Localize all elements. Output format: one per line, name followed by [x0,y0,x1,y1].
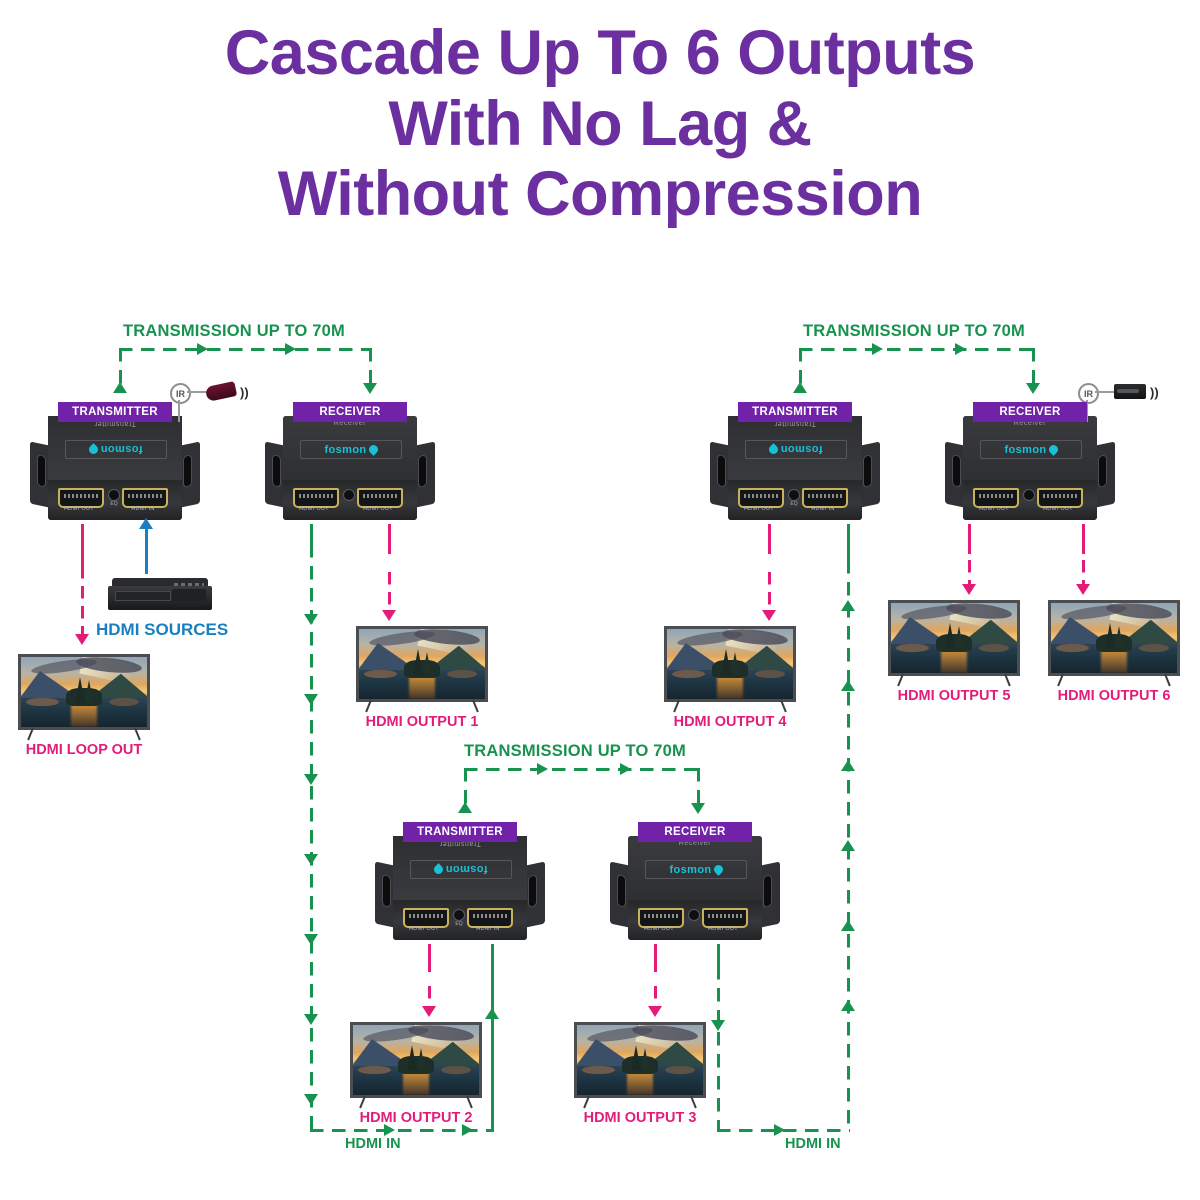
device-transmitter-1[interactable]: TRANSMITTER Transmitter fosmon HDMI OUT … [30,402,200,532]
display-caption-loop-out: HDMI LOOP OUT [18,742,150,758]
hdmi-out-port-2[interactable] [738,488,784,508]
display-output-1[interactable]: HDMI OUTPUT 1 [356,626,488,702]
eq-knob-3[interactable] [454,910,464,920]
hdmi-out-port-r1b[interactable] [357,488,403,508]
cascade-left-arrow-4 [304,854,318,865]
hdmi-out-port-1[interactable] [58,488,104,508]
mount-slot [184,455,191,486]
ir-wire [1095,391,1115,393]
brand-logo-plate: fosmon [745,440,847,459]
hdmi-out-port-r1a[interactable] [293,488,339,508]
hdmi-out-label-3: HDMI OUT [399,926,449,932]
cascade-right-end [847,524,850,562]
link3-arrow-b [620,763,631,775]
out1-line-seg2 [388,572,391,610]
tx2-riser-arrow [793,382,807,393]
display-caption-output-3: HDMI OUTPUT 3 [574,1110,706,1126]
tv-screen [18,654,150,730]
out6-arrow [1076,584,1090,595]
cascade-left-start [310,524,313,544]
dvd-indicators [174,583,204,586]
tv-screen [888,600,1020,676]
loopout-line-seg1 [81,524,84,566]
display-loop-out[interactable]: HDMI LOOP OUT [18,654,150,730]
tv-screen [350,1022,482,1098]
transmitter-badge-1: TRANSMITTER [58,402,172,422]
display-caption-output-4: HDMI OUTPUT 4 [664,714,796,730]
out2-arrow [422,1006,436,1017]
cascade-left-arrow-1 [304,614,318,625]
out4-line-seg2 [768,572,771,610]
brand-logo-text: fosmon [780,444,822,456]
cascade-left-run-arrow-b [462,1124,473,1136]
tx1-riser-arrow [113,382,127,393]
hdmi-out-port-r2a[interactable] [973,488,1019,508]
transmission-label-2: TRANSMISSION UP TO 70M [803,322,1025,341]
cascade-right-run-arrow [774,1124,785,1136]
cascade-left-end-arrow [485,1008,499,1019]
tx2-rx2-link [799,348,1035,351]
mount-slot [38,455,45,486]
display-caption-output-1: HDMI OUTPUT 1 [356,714,488,730]
out3-line-seg2 [654,986,657,1006]
source-line [145,524,148,574]
hdmi-in-label-2: HDMI IN [798,506,848,512]
device-transmitter-3[interactable]: TRANSMITTER Transmitter fosmon HDMI OUT … [375,822,545,952]
link3-arrow-a [537,763,548,775]
cascade-left-arrow-5 [304,934,318,945]
brand-logo-text: fosmon [445,864,487,876]
hdmi-out-label-r3b: HDMI OUT [698,926,748,932]
eq-knob-1[interactable] [109,490,119,500]
rx1-dropper-arrow [363,383,377,394]
rx2-dropper-arrow [1026,383,1040,394]
receiver-badge-1: RECEIVER [293,402,407,422]
source-arrow [139,518,153,529]
brand-logo-plate: fosmon [645,860,747,879]
brand-logo-plate: fosmon [980,440,1082,459]
cascade-right-drop-arrow [711,1020,725,1031]
display-output-4[interactable]: HDMI OUTPUT 4 [664,626,796,702]
tx3-riser-arrow [458,802,472,813]
hdmi-out-port-r3a[interactable] [638,908,684,928]
brand-logo-icon [433,863,446,876]
brand-logo-icon [88,443,101,456]
out6-line-seg1 [1082,524,1085,554]
hdmi-out-port-r2b[interactable] [1037,488,1083,508]
display-output-2[interactable]: HDMI OUTPUT 2 [350,1022,482,1098]
brand-logo-icon [712,863,725,876]
out5-line-seg2 [968,560,971,584]
ir-emitter-icon [205,381,237,402]
out1-arrow [382,610,396,621]
title-line-3: Without Compression [0,159,1200,230]
cascade-right-arrow-5 [841,920,855,931]
hdmi-out-port-3[interactable] [403,908,449,928]
out5-arrow [962,584,976,595]
transmission-label-1: TRANSMISSION UP TO 70M [123,322,345,341]
link2-arrow-a [872,343,883,355]
ir-drop-wire [178,400,180,422]
tv-screen [1048,600,1180,676]
brand-logo-plate: fosmon [65,440,167,459]
hdmi-in-label-3: HDMI IN [463,926,513,932]
brand-logo-text: fosmon [669,864,711,876]
tx1-rx1-link [119,348,372,351]
cascade-right-arrow-1 [841,600,855,611]
ir-signal-icon: )) [1150,385,1159,400]
brand-logo-text: fosmon [1004,444,1046,456]
page-title: Cascade Up To 6 Outputs With No Lag & Wi… [0,18,1200,230]
cascade-right-arrow-3 [841,760,855,771]
link1-arrow-a [197,343,208,355]
cascade-right-dropper [717,966,720,1132]
out4-arrow [762,610,776,621]
link1-arrow-b [285,343,296,355]
out3-line-seg1 [654,944,657,972]
cascade-left-riser [310,544,313,1132]
hdmi-sources-label: HDMI SOURCES [96,620,228,640]
tv-screen [574,1022,706,1098]
hdmi-in-port-2[interactable] [802,488,848,508]
hdmi-out-label-2: HDMI OUT [734,506,784,512]
brand-logo-text: fosmon [100,444,142,456]
display-output-3[interactable]: HDMI OUTPUT 3 [574,1022,706,1098]
ir-wire [187,391,207,393]
cascade-left-arrow-6 [304,1014,318,1025]
transmitter-badge-3: TRANSMITTER [403,822,517,842]
cascade-right-arrow-2 [841,680,855,691]
out4-line-seg1 [768,524,771,554]
cascade-right-arrow-6 [841,1000,855,1011]
device-receiver-3[interactable]: RECEIVER Receiver fosmon HDMI OUT HDMI O… [610,822,780,952]
out5-line-seg1 [968,524,971,554]
hdmi-in-port-3[interactable] [467,908,513,928]
eq-knob-2[interactable] [789,490,799,500]
out2-line-seg2 [428,986,431,1006]
cascade-left-label: HDMI IN [345,1136,401,1152]
hdmi-out-label-r1b: HDMI OUT [353,506,403,512]
status-led-r1 [344,490,354,500]
hdmi-out-label-r1a: HDMI OUT [289,506,339,512]
dvd-buttons[interactable] [172,589,206,601]
cascade-right-label: HDMI IN [785,1136,841,1152]
hdmi-out-label-r2b: HDMI OUT [1033,506,1083,512]
display-caption-output-6: HDMI OUTPUT 6 [1048,688,1180,704]
out1-line-seg1 [388,524,391,554]
device-receiver-2[interactable]: RECEIVER Receiver fosmon HDMI OUT HDMI O… [945,402,1115,532]
device-receiver-1[interactable]: RECEIVER Receiver fosmon HDMI OUT HDMI O… [265,402,435,532]
cascade-left-run-arrow-a [384,1124,395,1136]
hdmi-in-label-1: HDMI IN [118,506,168,512]
dvd-tray [115,591,171,601]
tv-screen [664,626,796,702]
mount-slot [273,455,280,486]
transmitter-badge-2: TRANSMITTER [738,402,852,422]
ir-signal-icon: )) [240,385,249,400]
display-output-5[interactable]: HDMI OUTPUT 5 [888,600,1020,676]
cascade-right-arrow-4 [841,840,855,851]
rx3-dropper-arrow [691,803,705,814]
out2-line-seg1 [428,944,431,972]
tv-screen [356,626,488,702]
receiver-badge-2: RECEIVER [973,402,1087,422]
loopout-line-seg2 [81,566,84,634]
cascade-left-arrow-2 [304,694,318,705]
hdmi-in-port-1[interactable] [122,488,168,508]
tx3-rx3-link [464,768,700,771]
hdmi-out-label-r3a: HDMI OUT [634,926,684,932]
brand-logo-plate: fosmon [410,860,512,879]
status-led-r3 [689,910,699,920]
hdmi-source-device[interactable] [108,578,212,612]
receiver-badge-3: RECEIVER [638,822,752,842]
status-led-r2 [1024,490,1034,500]
cascade-right-start [717,944,720,966]
title-line-1: Cascade Up To 6 Outputs [0,18,1200,89]
brand-logo-plate: fosmon [300,440,402,459]
hdmi-out-port-r3b[interactable] [702,908,748,928]
brand-logo-icon [367,443,380,456]
out6-line-seg2 [1082,560,1085,584]
transmission-label-3: TRANSMISSION UP TO 70M [464,742,686,761]
hdmi-out-label-1: HDMI OUT [54,506,104,512]
hdmi-out-label-r2a: HDMI OUT [969,506,1019,512]
out3-arrow [648,1006,662,1017]
brand-logo-icon [1047,443,1060,456]
cascade-left-end [491,944,494,1132]
mount-slot [419,455,426,486]
device-transmitter-2[interactable]: TRANSMITTER Transmitter fosmon HDMI OUT … [710,402,880,532]
brand-logo-icon [768,443,781,456]
ir-icon: IR [170,383,191,404]
link2-arrow-b [955,343,966,355]
ir-icon: IR [1078,383,1099,404]
display-output-6[interactable]: HDMI OUTPUT 6 [1048,600,1180,676]
display-caption-output-5: HDMI OUTPUT 5 [888,688,1020,704]
cascade-left-arrow-3 [304,774,318,785]
title-line-2: With No Lag & [0,89,1200,160]
ir-sensor-icon [1114,384,1146,399]
brand-logo-text: fosmon [324,444,366,456]
loopout-arrow [75,634,89,645]
cascade-left-arrow-7 [304,1094,318,1105]
